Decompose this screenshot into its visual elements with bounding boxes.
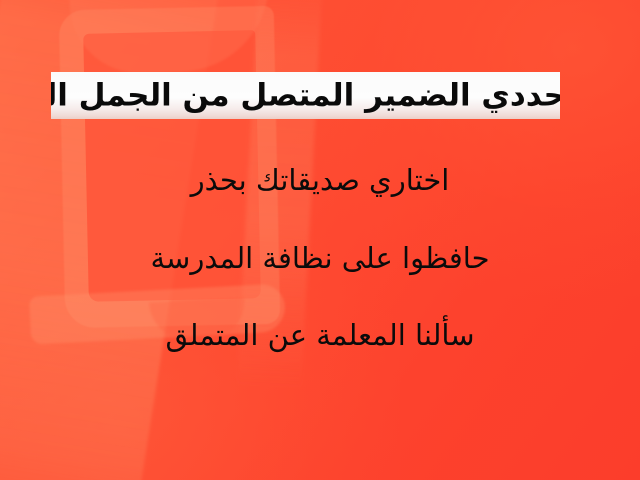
title-banner: حددي الضمير المتصل من الجمل التالية (51, 72, 560, 119)
sentence-line-3: سألنا المعلمة عن المتملق (0, 321, 640, 350)
sentence-line-2: حافظوا على نظافة المدرسة (0, 244, 640, 273)
slide-canvas: حددي الضمير المتصل من الجمل التالية اختا… (0, 0, 640, 480)
sentence-list: اختاري صديقاتك بحذر حافظوا على نظافة الم… (0, 166, 640, 350)
sentence-line-1: اختاري صديقاتك بحذر (0, 166, 640, 195)
slide-title: حددي الضمير المتصل من الجمل التالية (51, 80, 560, 111)
